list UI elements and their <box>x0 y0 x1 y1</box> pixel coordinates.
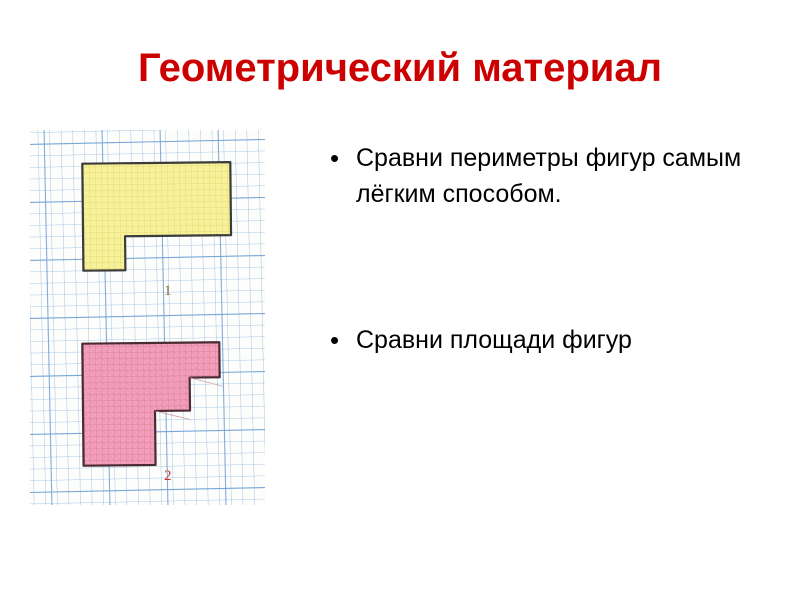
bullet-text-compare-areas: Сравни площади фигур <box>356 322 780 358</box>
page-title: Геометрический материал <box>0 46 800 91</box>
bullet-list: • Сравни периметры фигур самым лёгким сп… <box>330 140 780 358</box>
bullet-compare-areas: • Сравни площади фигур <box>330 322 780 358</box>
figure-1-label: 1 <box>164 283 172 300</box>
bullet-marker-icon: • <box>330 322 356 358</box>
figure-2-label: 2 <box>164 468 172 485</box>
slide-canvas: Геометрический материал <box>0 0 800 600</box>
figures-illustration: 1 2 <box>30 130 265 505</box>
grid-paper-svg <box>30 130 265 505</box>
bullet-text-compare-perimeters: Сравни периметры фигур самым лёгким спос… <box>356 140 780 212</box>
bullet-compare-perimeters: • Сравни периметры фигур самым лёгким сп… <box>330 140 780 212</box>
bullet-marker-icon: • <box>330 140 356 176</box>
